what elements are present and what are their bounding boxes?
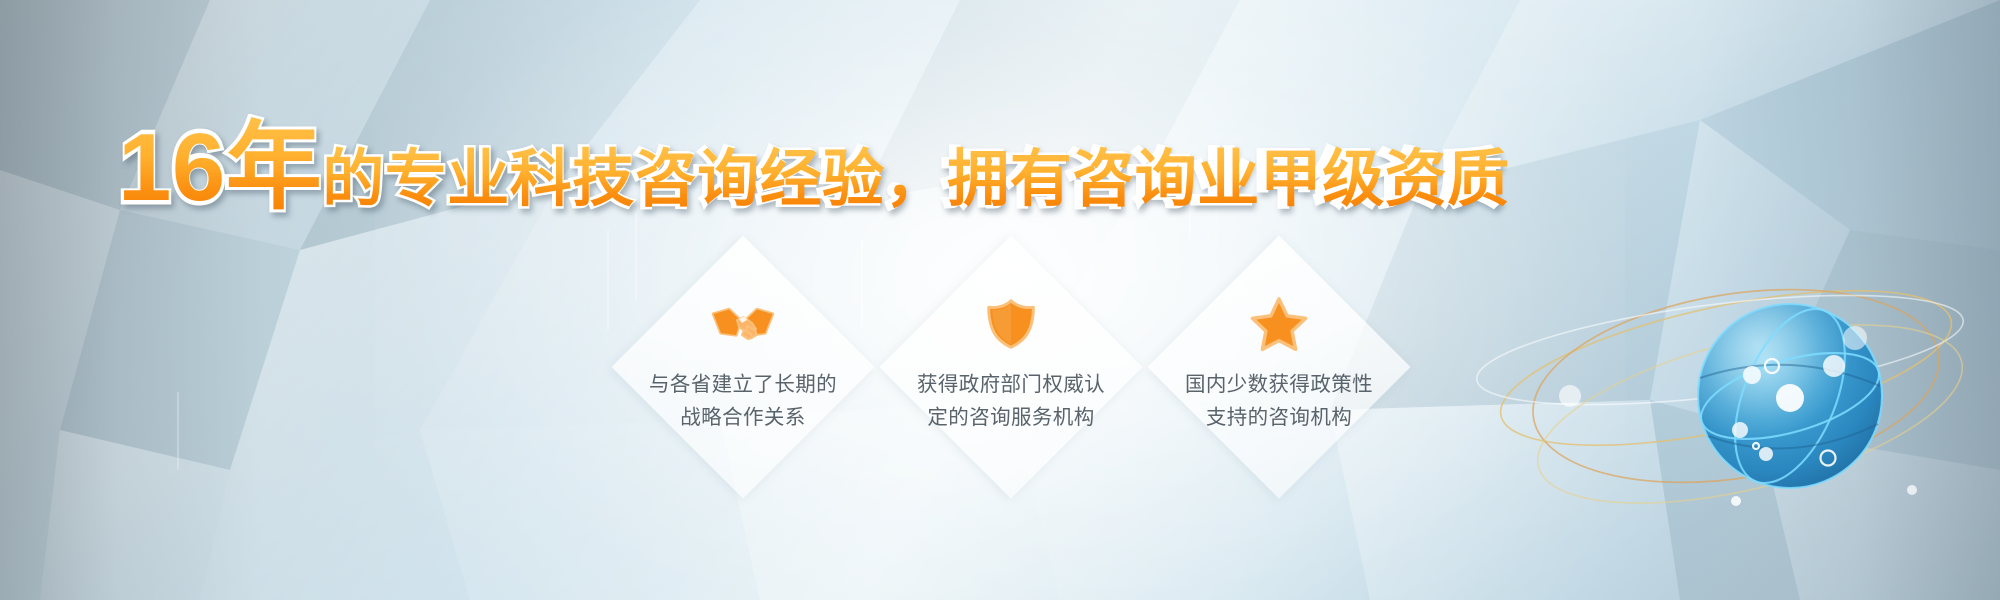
feature-card[interactable]: 与各省建立了长期的 战略合作关系 (612, 236, 874, 498)
card-text-line2: 定的咨询服务机构 (917, 401, 1105, 434)
star-icon (1247, 294, 1311, 354)
card-text-line2: 支持的咨询机构 (1185, 401, 1373, 434)
card-diamond-shape (611, 235, 874, 498)
card-text: 获得政府部门权威认 定的咨询服务机构 (917, 368, 1105, 434)
headline-rest: 的专业科技咨询经验，拥有咨询业甲级资质 (322, 145, 1510, 214)
feature-card[interactable]: 获得政府部门权威认 定的咨询服务机构 (880, 236, 1142, 498)
card-text-line1: 国内少数获得政策性 (1185, 368, 1373, 401)
headline: 16年 16年 的专业科技咨询经验，拥有咨询业甲级资质 的专业科技咨询经验，拥有… (118, 120, 1510, 216)
card-text: 与各省建立了长期的 战略合作关系 (649, 368, 837, 434)
card-text-line1: 获得政府部门权威认 (917, 368, 1105, 401)
headline-rest-wrap: 的专业科技咨询经验，拥有咨询业甲级资质 的专业科技咨询经验，拥有咨询业甲级资质 (322, 149, 1510, 211)
headline-years: 16年 (118, 114, 322, 221)
card-text: 国内少数获得政策性 支持的咨询机构 (1185, 368, 1373, 434)
card-diamond-shape (879, 235, 1142, 498)
handshake-icon (711, 294, 775, 354)
feature-card[interactable]: 国内少数获得政策性 支持的咨询机构 (1148, 236, 1410, 498)
card-diamond-shape (1147, 235, 1410, 498)
globe-network-graphic (1540, 218, 1960, 528)
promo-banner: 16年 16年 的专业科技咨询经验，拥有咨询业甲级资质 的专业科技咨询经验，拥有… (0, 0, 2000, 600)
shield-icon (979, 294, 1043, 354)
card-text-line2: 战略合作关系 (649, 401, 837, 434)
headline-years-wrap: 16年 16年 (118, 120, 322, 216)
card-text-line1: 与各省建立了长期的 (649, 368, 837, 401)
feature-card-list: 与各省建立了长期的 战略合作关系 获得政府部门权威认 定的咨询服务机构 (612, 236, 1410, 498)
